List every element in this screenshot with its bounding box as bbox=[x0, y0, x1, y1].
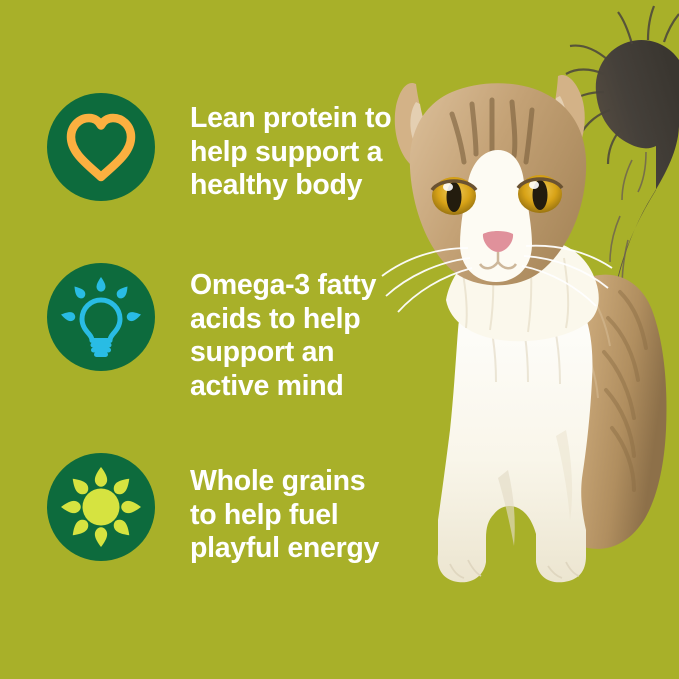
product-benefits-panel: Lean protein to help support a healthy b… bbox=[0, 0, 679, 679]
benefit-label-lean-protein: Lean protein to help support a healthy b… bbox=[190, 93, 391, 203]
benefit-row-omega-3: Omega-3 fatty acids to help support an a… bbox=[47, 263, 376, 403]
sun-icon bbox=[58, 464, 144, 550]
benefit-label-whole-grains: Whole grains to help fuel playful energy bbox=[190, 453, 379, 566]
lightbulb-icon-badge bbox=[47, 263, 155, 371]
cat-photo bbox=[380, 0, 679, 679]
heart-icon bbox=[62, 111, 140, 183]
heart-icon-badge bbox=[47, 93, 155, 201]
benefit-label-omega-3: Omega-3 fatty acids to help support an a… bbox=[190, 263, 376, 403]
sun-icon-badge bbox=[47, 453, 155, 561]
lightbulb-icon bbox=[59, 275, 143, 359]
benefit-row-whole-grains: Whole grains to help fuel playful energy bbox=[47, 453, 379, 566]
benefit-row-lean-protein: Lean protein to help support a healthy b… bbox=[47, 93, 391, 203]
